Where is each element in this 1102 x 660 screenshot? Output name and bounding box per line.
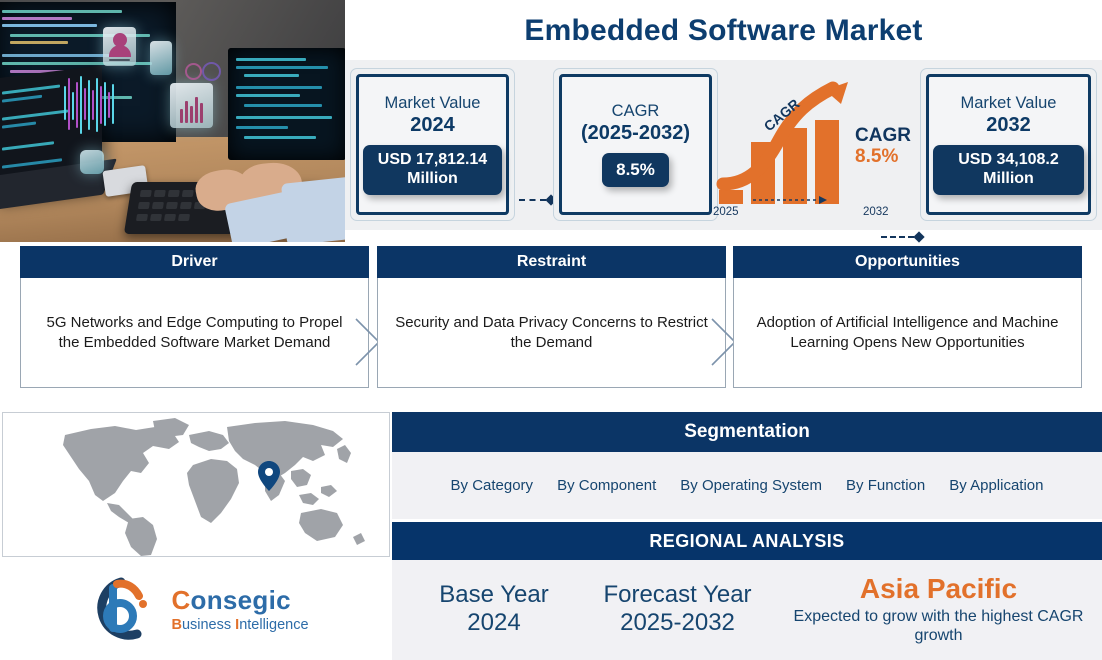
opportunities-panel: Opportunities Adoption of Artificial Int… [733,246,1082,390]
segmentation-item-category[interactable]: By Category [451,477,534,494]
hero-holo-small-card-desk [80,150,104,174]
forecast-year-value: 2025-2032 [580,609,775,638]
hero-ring-right [202,62,221,81]
metric-period: (2025-2032) [581,122,690,145]
metric-card-cagr: CAGR (2025-2032) 8.5% [553,68,718,221]
map-location-pin-icon [258,461,280,491]
logo-sub-b: B [171,617,181,633]
metric-label: CAGR [612,102,660,120]
segmentation-item-component[interactable]: By Component [557,477,656,494]
driver-heading: Driver [20,246,369,278]
regional-analysis-heading: REGIONAL ANALYSIS [392,522,1102,560]
logo-tagline: Business Intelligence [171,618,308,633]
hero-monitor-secondary [228,48,345,160]
base-year-value: 2024 [414,609,574,638]
driver-text: 5G Networks and Edge Computing to Propel… [20,278,369,388]
regional-analysis-body: Base Year 2024 Forecast Year 2025-2032 A… [392,560,1102,660]
metric-label: Market Value [961,94,1057,112]
connector-dash [519,199,546,201]
metric-value-pill: USD 17,812.14 Million [363,145,502,195]
metric-card-market-value-2024: Market Value 2024 USD 17,812.14 Million [350,68,515,221]
growth-axis-start-label: 2025 [713,206,739,218]
growth-bar-4 [815,120,839,204]
connector-dash [881,236,914,238]
leading-region-column: Asia Pacific Expected to grow with the h… [775,574,1102,645]
connector-2024-to-cagr [519,195,555,205]
infographic-page: Embedded Software Market Market Value 20… [0,0,1102,660]
hero-sleeve-right [281,176,345,242]
header-and-metrics: Embedded Software Market Market Value 20… [345,0,1102,242]
forecast-year-label: Forecast Year [580,582,775,609]
metrics-strip: Market Value 2024 USD 17,812.14 Million … [345,60,1102,230]
base-year-column: Base Year 2024 [414,582,574,638]
metric-value-pill: USD 34,108.2 Million [933,145,1084,195]
consegic-logo-mark-icon [83,576,159,644]
hero-holo-small-card-top [150,41,172,75]
segmentation-item-operating-system[interactable]: By Operating System [680,477,822,494]
connector-cagr-to-2032 [881,232,923,242]
metric-card-market-value-2032: Market Value 2032 USD 34,108.2 Million [920,68,1097,221]
logo-wordmark: Consegic Business Intelligence [171,587,308,633]
restraint-heading: Restraint [377,246,726,278]
metric-year: 2024 [410,114,455,137]
growth-cagr-callout: CAGR 8.5% [855,126,911,169]
growth-cagr-value: 8.5% [855,145,911,169]
company-logo: Consegic Business Intelligence [2,560,390,660]
growth-cagr-word: CAGR [855,126,911,145]
opportunities-text: Adoption of Artificial Intelligence and … [733,278,1082,388]
hero-image-developer-coding [0,0,345,242]
logo-name-rest: onsegic [191,585,291,615]
segmentation-item-function[interactable]: By Function [846,477,925,494]
hero-holo-profile-card [103,27,136,66]
metric-card-inner: Market Value 2032 USD 34,108.2 Million [926,74,1091,215]
connector-diamond [913,231,924,242]
leading-region-note: Expected to grow with the highest CAGR g… [781,607,1096,645]
logo-company-name: Consegic [171,587,308,613]
bottom-section: Consegic Business Intelligence Segmentat… [0,412,1102,660]
metric-card-inner: Market Value 2024 USD 17,812.14 Million [356,74,509,215]
hero-holo-chart-card [170,83,213,128]
metric-label: Market Value [385,94,481,112]
restraint-text: Security and Data Privacy Concerns to Re… [377,278,726,388]
restraint-panel: Restraint Security and Data Privacy Conc… [377,246,726,390]
opportunities-heading: Opportunities [733,246,1082,278]
metric-year: 2032 [986,114,1031,137]
growth-axis-end-label: 2032 [863,206,889,218]
hero-ring-left [185,63,202,80]
world-map-svg [3,413,389,556]
growth-bar-1 [719,190,743,204]
cagr-growth-chart: CAGR 2025 2032 CAGR 8.5% [713,80,913,222]
segmentation-heading: Segmentation [392,412,1102,452]
forecast-year-column: Forecast Year 2025-2032 [580,582,775,638]
logo-name-first-letter: C [171,585,190,615]
driver-panel: Driver 5G Networks and Edge Computing to… [20,246,369,390]
metric-card-inner: CAGR (2025-2032) 8.5% [559,74,712,215]
dro-section: Driver 5G Networks and Edge Computing to… [0,246,1102,390]
world-map-panel [2,412,390,557]
metric-value-pill: 8.5% [602,153,669,187]
logo-sub-usiness: usiness [182,617,235,633]
base-year-label: Base Year [414,582,574,609]
page-title: Embedded Software Market [345,14,1102,48]
leading-region-name: Asia Pacific [781,574,1096,605]
segmentation-items: By Category By Component By Operating Sy… [392,452,1102,519]
map-landmasses [63,418,365,556]
top-section: Embedded Software Market Market Value 20… [0,0,1102,242]
logo-sub-ntelligence: ntelligence [239,617,308,633]
segmentation-item-application[interactable]: By Application [949,477,1043,494]
